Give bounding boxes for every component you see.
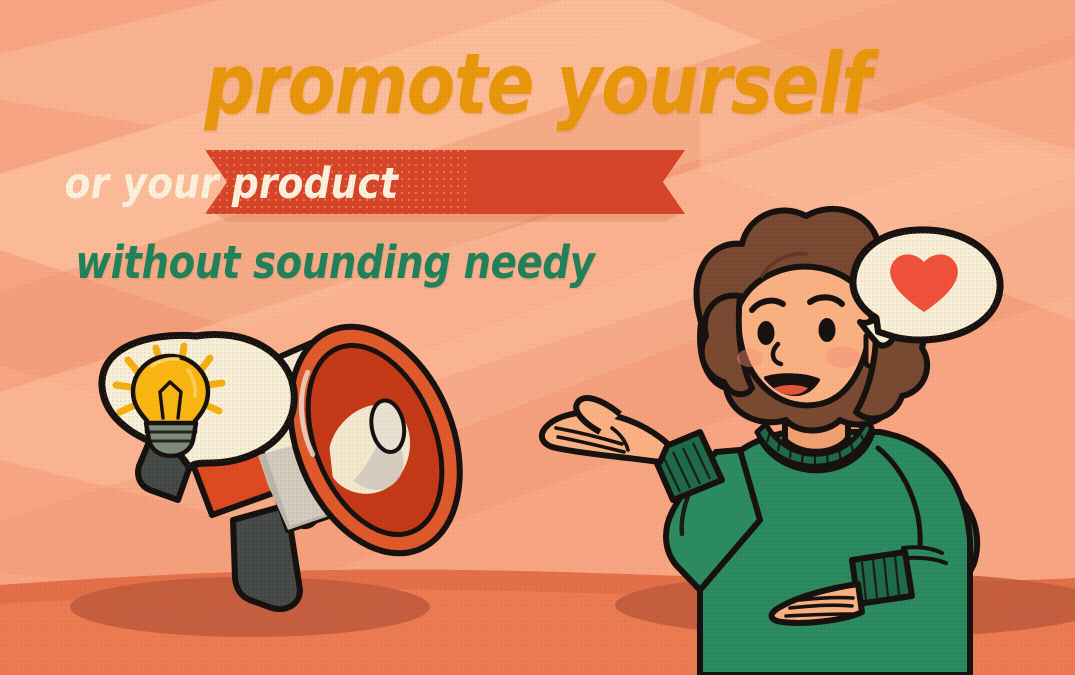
subtitle: without sounding needy — [75, 240, 1000, 285]
megaphone-floor-shadow — [70, 577, 430, 637]
page-title: promote yourself — [86, 42, 989, 126]
ribbon-label: or your product — [65, 163, 1011, 206]
poster-canvas: promote yourself or your product without… — [0, 0, 1075, 675]
